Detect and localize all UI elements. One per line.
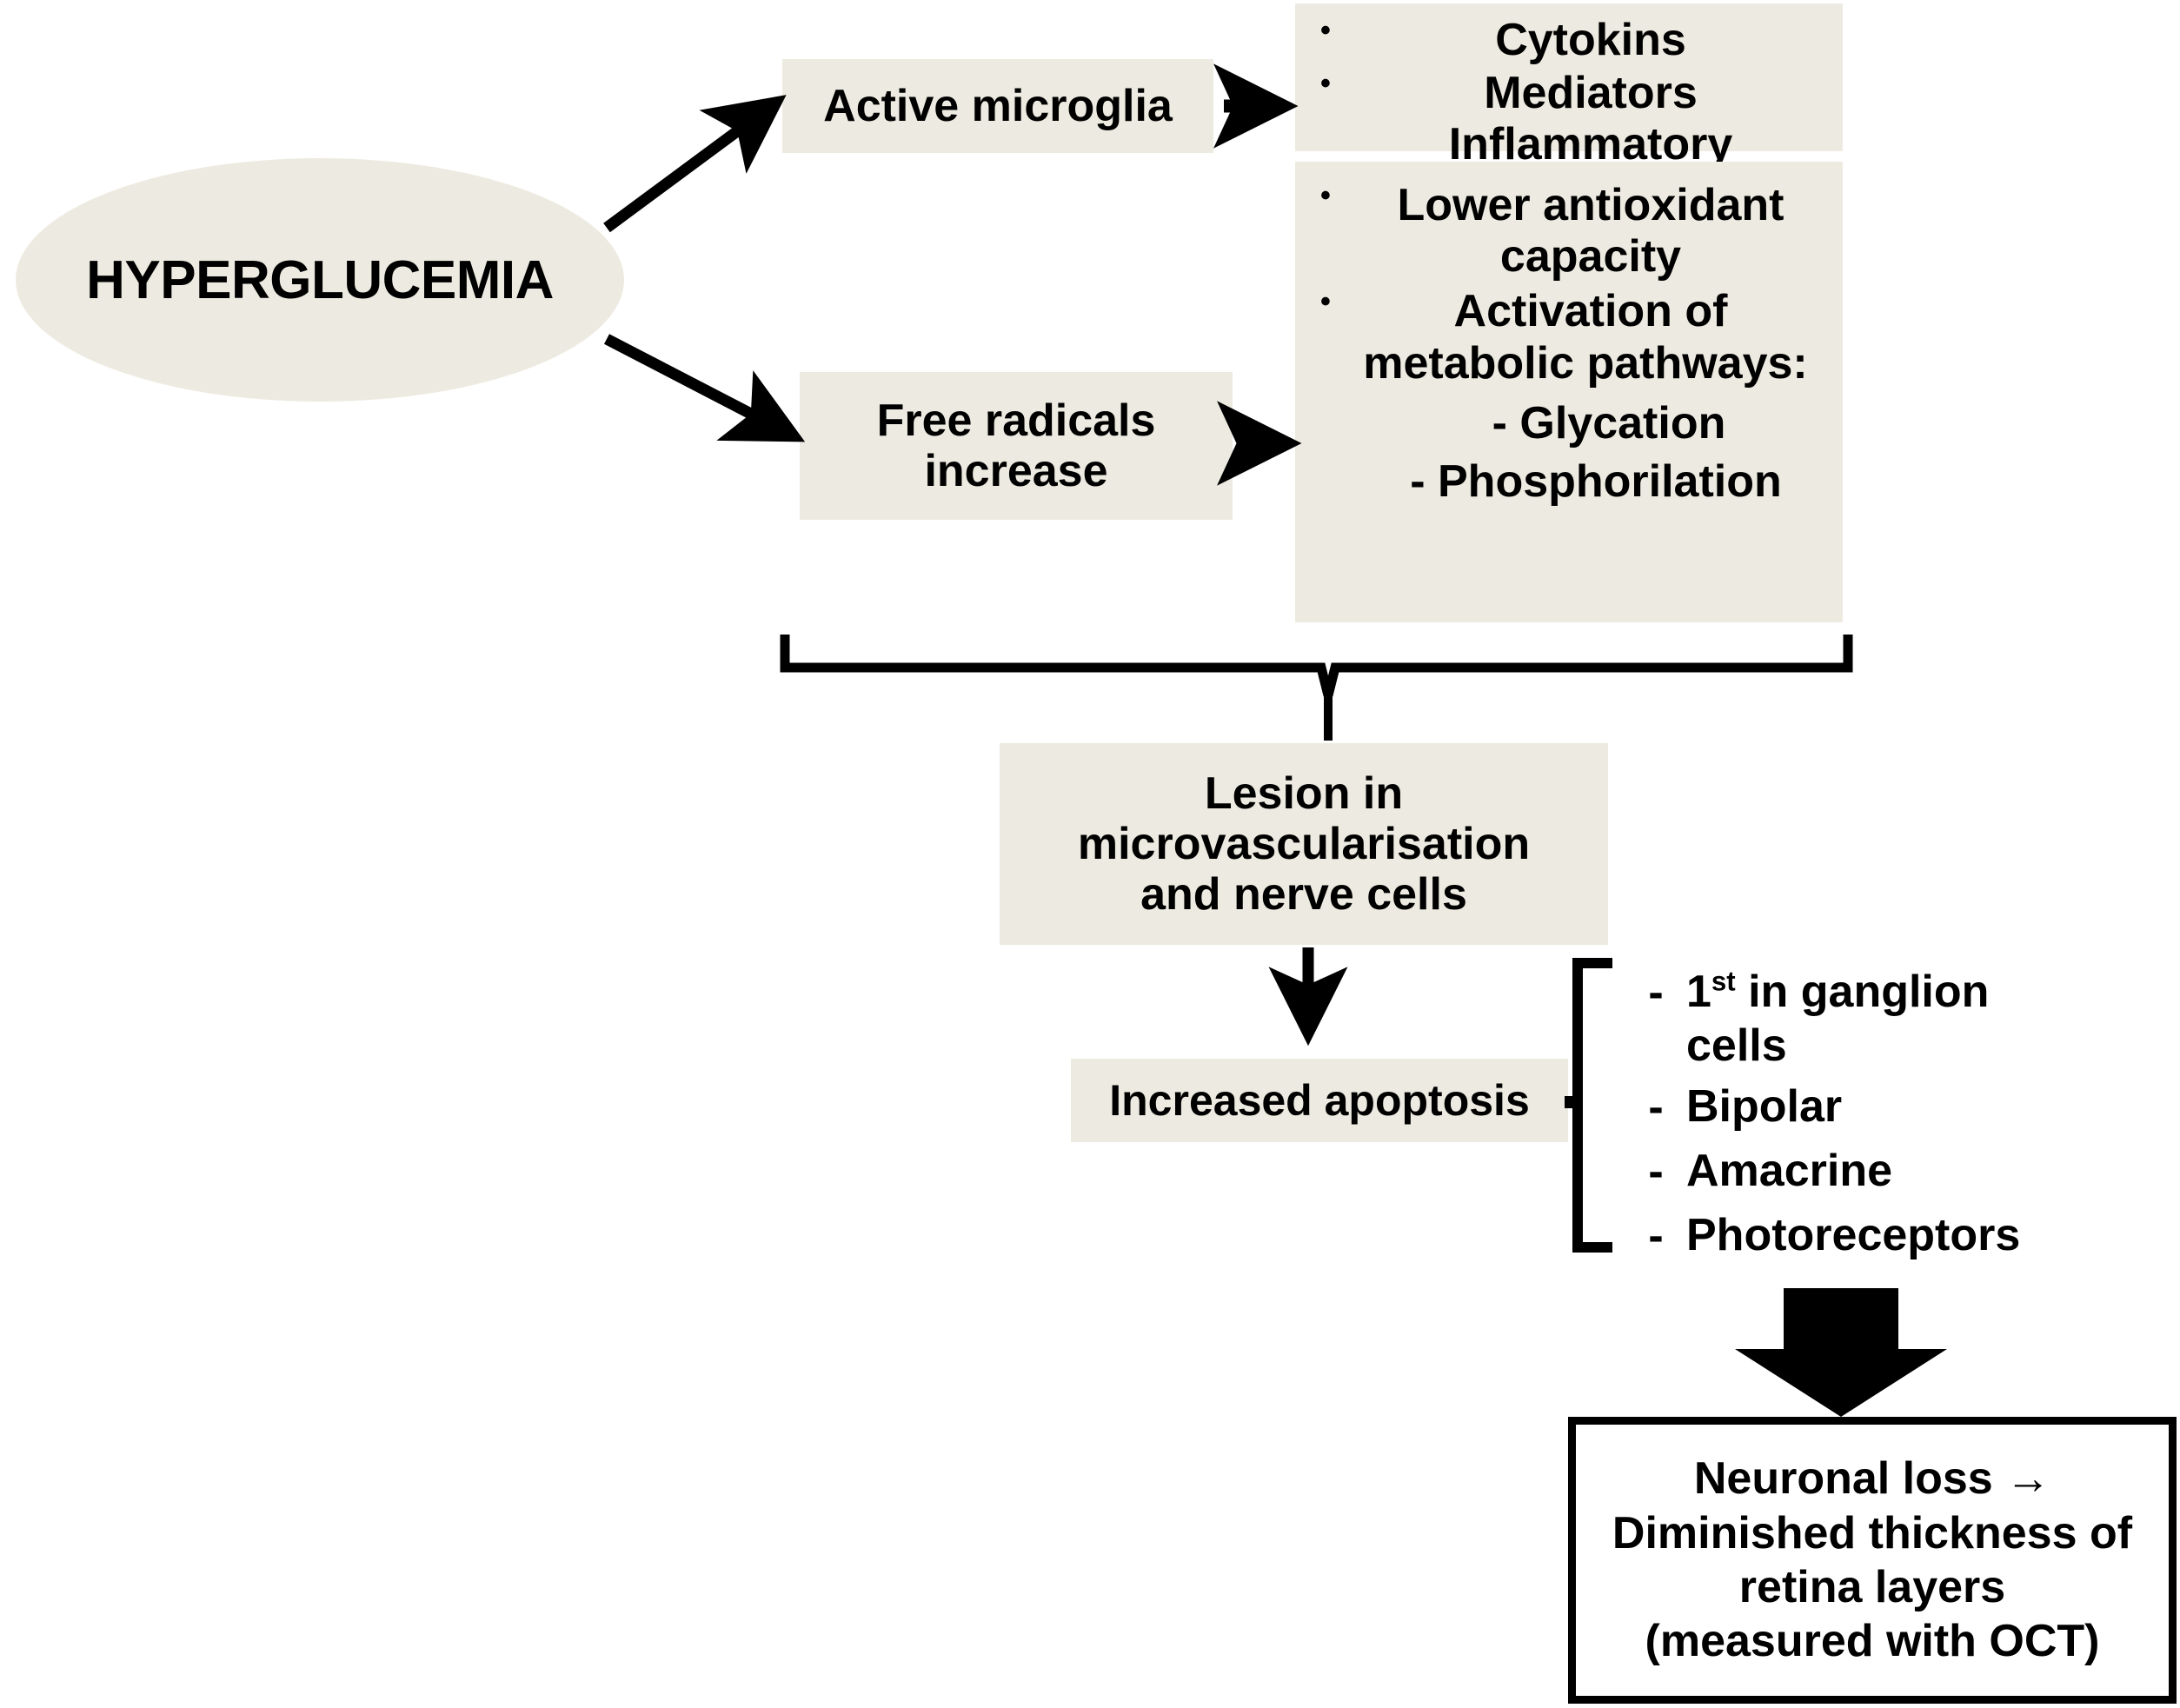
list-item-bipolar-label: Bipolar <box>1686 1081 2164 1132</box>
arrow-hyperglucemia-to-free-radicals <box>607 339 791 435</box>
bullet-row-mediators: • Mediators <box>1300 69 1831 118</box>
cell-list-bracket <box>1578 963 1612 1247</box>
arrow-hyperglucemia-to-microglia <box>607 104 774 228</box>
node-lesion-line1: Lesion in <box>1205 768 1403 819</box>
node-hyperglucemia-label: HYPERGLUCEMIA <box>86 249 554 311</box>
node-increased-apoptosis: Increased apoptosis <box>1071 1059 1568 1142</box>
bullet-row-cytokins: • Cytokins <box>1300 16 1831 65</box>
node-hyperglucemia: HYPERGLUCEMIA <box>16 158 624 402</box>
list-item-photoreceptors-label: Photoreceptors <box>1686 1210 2164 1260</box>
list-item-amacrine-label: Amacrine <box>1686 1146 2164 1196</box>
node-neuronal-loss-line3: retina layers <box>1739 1560 2005 1614</box>
subitem-phosphorilation-label: - Phosphorilation <box>1361 457 1831 507</box>
bullet-metabolic-pathways-label: metabolic pathways: <box>1340 339 1831 389</box>
dash-spacer <box>1625 1020 1686 1073</box>
node-lesion-line3: and nerve cells <box>1140 869 1467 920</box>
bullet-activation-label: Activation of <box>1351 287 1831 336</box>
cell-type-list: - 1st in ganglion cells - Bipolar - Amac… <box>1625 967 2164 1262</box>
bullet-dot-icon: • <box>1300 16 1351 45</box>
dash-marker-icon: - <box>1625 967 1686 1019</box>
list-item-cells: cells <box>1625 1020 2164 1073</box>
bullet-row-activation: • Activation of <box>1300 287 1831 336</box>
node-increased-apoptosis-label: Increased apoptosis <box>1109 1076 1530 1125</box>
dash-marker-icon: - <box>1625 1210 1686 1262</box>
list-item-ganglion-label: 1st in ganglion <box>1686 967 2164 1017</box>
list-item-bipolar: - Bipolar <box>1625 1081 2164 1133</box>
node-free-radicals-line2: increase <box>924 446 1107 496</box>
bullet-dot-icon: • <box>1300 181 1351 210</box>
bullet-capacity-label: capacity <box>1351 232 1831 282</box>
list-item-amacrine: - Amacrine <box>1625 1146 2164 1198</box>
list-item-ganglion: - 1st in ganglion <box>1625 967 2164 1019</box>
bullet-cytokins-label: Cytokins <box>1351 16 1831 65</box>
node-neuronal-loss-line4: (measured with OCT) <box>1645 1614 2100 1668</box>
node-lesion-line2: microvascularisation <box>1078 819 1530 869</box>
bullet-row-lower-antioxidant: • Lower antioxidant <box>1300 181 1831 230</box>
bullet-dot-icon: • <box>1300 287 1351 316</box>
brace-connector <box>785 635 1848 695</box>
list-item-cells-label: cells <box>1686 1020 2164 1071</box>
node-cytokins-box: • Cytokins • Mediators Inflammatory <box>1295 3 1843 151</box>
node-lesion: Lesion in microvascularisation and nerve… <box>1000 743 1608 945</box>
node-free-radicals-line1: Free radicals <box>877 395 1156 446</box>
bullet-mediators-label: Mediators <box>1351 69 1831 118</box>
dash-marker-icon: - <box>1625 1146 1686 1198</box>
dash-marker-icon: - <box>1625 1081 1686 1133</box>
bullet-lower-antioxidant-label: Lower antioxidant <box>1351 181 1831 230</box>
node-neuronal-loss-line1: Neuronal loss → <box>1694 1452 2050 1505</box>
list-item-photoreceptors: - Photoreceptors <box>1625 1210 2164 1262</box>
node-oxidative-box: • Lower antioxidant capacity • Activatio… <box>1295 162 1843 622</box>
node-active-microglia: Active microglia <box>782 59 1213 153</box>
bullet-dot-icon: • <box>1300 69 1351 98</box>
node-free-radicals: Free radicals increase <box>800 372 1233 520</box>
node-active-microglia-label: Active microglia <box>823 81 1173 131</box>
subitem-glycation-label: - Glycation <box>1387 399 1831 449</box>
node-neuronal-loss-line2: Diminished thickness of <box>1612 1506 2132 1560</box>
flowchart-canvas: HYPERGLUCEMIA Active microglia Free radi… <box>0 0 2180 1708</box>
thick-down-arrow-icon <box>1735 1288 1947 1417</box>
node-neuronal-loss: Neuronal loss → Diminished thickness of … <box>1568 1417 2177 1704</box>
